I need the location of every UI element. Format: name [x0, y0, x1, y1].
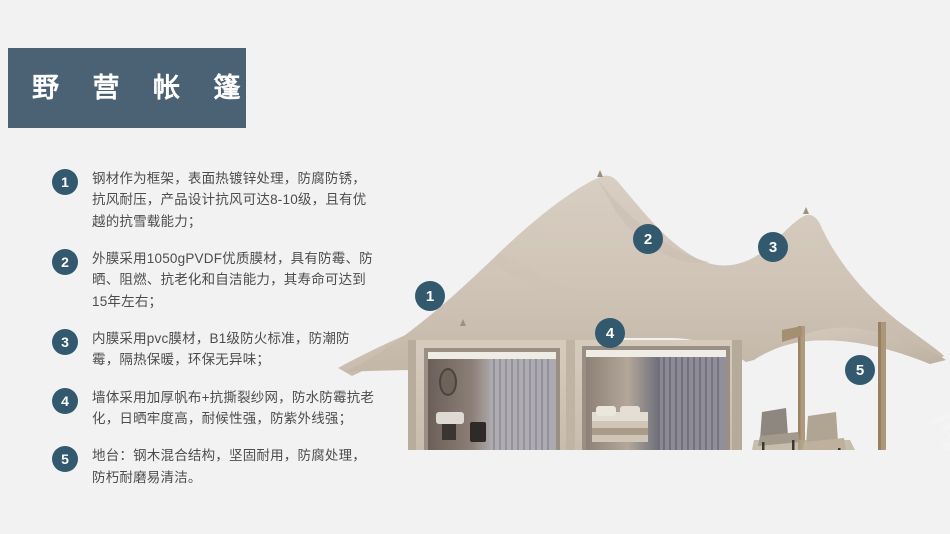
feature-badge-2: 2 [52, 249, 78, 275]
window-left [424, 348, 560, 450]
title-banner: 野 营 帐 篷 [8, 48, 246, 128]
list-item: 3 内膜采用pvc膜材，B1级防火标准，防潮防霉，隔热保暖，环保无异味； [52, 328, 377, 371]
tent-marker-4[interactable]: 4 [595, 318, 625, 348]
feature-list: 1 钢材作为框架，表面热镀锌处理，防腐防锈，抗风耐压，产品设计抗风可达8-10级… [52, 168, 377, 488]
window-right [582, 346, 730, 450]
feature-badge-3: 3 [52, 329, 78, 355]
feature-badge-5: 5 [52, 446, 78, 472]
tent-marker-2[interactable]: 2 [633, 224, 663, 254]
wall-corner-left [408, 340, 416, 450]
peak-pole-center [597, 170, 603, 177]
feature-badge-1: 1 [52, 169, 78, 195]
tent-marker-3[interactable]: 3 [758, 232, 788, 262]
list-item: 1 钢材作为框架，表面热镀锌处理，防腐防锈，抗风耐压，产品设计抗风可达8-10级… [52, 168, 377, 232]
feature-text-5: 地台：钢木混合结构，坚固耐用，防腐处理，防朽耐磨易清洁。 [92, 445, 377, 488]
feature-badge-4: 4 [52, 388, 78, 414]
list-item: 5 地台：钢木混合结构，坚固耐用，防腐处理，防朽耐磨易清洁。 [52, 445, 377, 488]
list-item: 2 外膜采用1050gPVDF优质膜材，具有防霉、防晒、阻燃、抗老化和自洁能力，… [52, 248, 377, 312]
peak-pole-right [803, 207, 809, 214]
lounge-chair-left [758, 408, 800, 450]
wall-corner-right [732, 340, 742, 450]
wall-seam-center [566, 340, 575, 450]
tent-marker-5[interactable]: 5 [845, 355, 875, 385]
tent-marker-1[interactable]: 1 [415, 281, 445, 311]
page-title: 野 营 帐 篷 [32, 75, 254, 102]
list-item: 4 墙体采用加厚帆布+抗撕裂纱网，防水防霉抗老化，日晒牢度高，耐候性强，防紫外线… [52, 387, 377, 430]
lounge-chair-right [802, 412, 846, 450]
